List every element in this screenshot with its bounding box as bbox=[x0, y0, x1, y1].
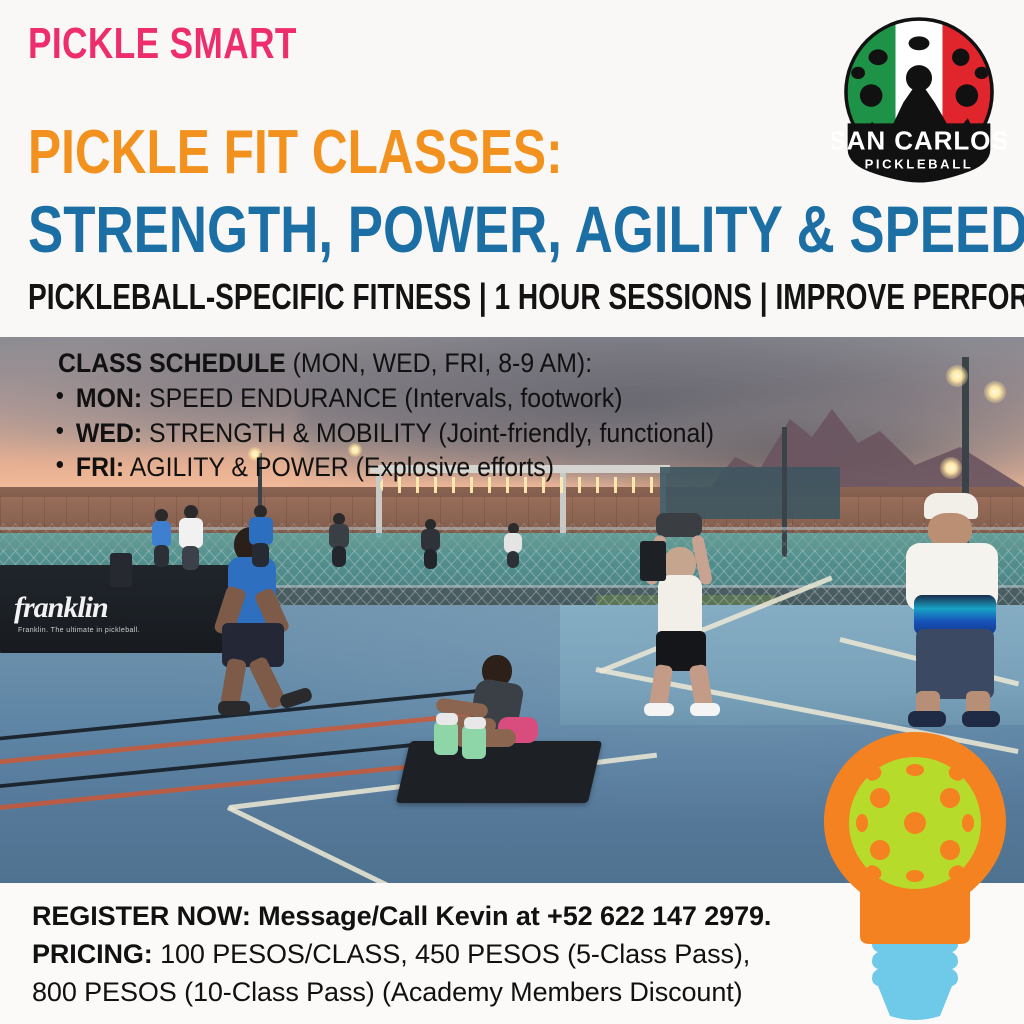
class-schedule: CLASS SCHEDULE (MON, WED, FRI, 8-9 AM): … bbox=[0, 348, 760, 484]
bg-person-1 bbox=[150, 509, 172, 567]
schedule-item-wed-text: STRENGTH & MOBILITY (Joint-friendly, fun… bbox=[142, 418, 714, 448]
weight-plate bbox=[656, 513, 702, 537]
brand-title: PICKLE SMART bbox=[28, 22, 297, 66]
schedule-title: CLASS SCHEDULE (MON, WED, FRI, 8-9 AM): bbox=[58, 348, 704, 379]
logo-line-1: SAN CARLOS bbox=[832, 125, 1006, 155]
athlete-stretching bbox=[420, 655, 550, 765]
bg-person-5 bbox=[420, 519, 442, 569]
logo-line-2: PICKLEBALL bbox=[865, 157, 974, 172]
lamp-right-top bbox=[946, 365, 968, 387]
trash-can bbox=[640, 541, 666, 581]
schedule-item-mon: MON: SPEED ENDURANCE (Intervals, footwor… bbox=[52, 381, 703, 415]
schedule-item-mon-text: SPEED ENDURANCE (Intervals, footwork) bbox=[142, 383, 622, 413]
bg-person-3 bbox=[248, 505, 274, 567]
schedule-list: MON: SPEED ENDURANCE (Intervals, footwor… bbox=[0, 381, 760, 484]
pricing-details: 100 PESOS/CLASS, 450 PESOS (5-Class Pass… bbox=[153, 939, 750, 969]
athlete-jumping-bag bbox=[886, 487, 1016, 727]
franklin-banner-subtext: Franklin. The ultimate in pickleball. bbox=[18, 627, 140, 634]
headline-secondary: STRENGTH, POWER, AGILITY & SPEED bbox=[28, 196, 1024, 262]
register-label: REGISTER NOW: bbox=[32, 901, 251, 931]
pricing-line-2: 800 PESOS (10-Class Pass) (Academy Membe… bbox=[32, 977, 743, 1008]
lamp-right-upper bbox=[984, 381, 1006, 403]
bg-person-4 bbox=[328, 513, 350, 567]
bg-person-6 bbox=[504, 523, 524, 567]
register-details: Message/Call Kevin at +52 622 147 2979. bbox=[251, 901, 772, 931]
pricing-label: PRICING: bbox=[32, 939, 153, 969]
trash-can-2 bbox=[110, 553, 132, 587]
header-section: PICKLE SMART PICKLE FIT CLASSES: STRENGT… bbox=[0, 0, 1024, 337]
pickleball-icon bbox=[849, 757, 981, 889]
athlete-overhead-press bbox=[630, 489, 730, 719]
schedule-item-wed-day: WED: bbox=[76, 418, 142, 448]
bg-person-2 bbox=[178, 505, 204, 571]
schedule-item-fri-text: AGILITY & POWER (Explosive efforts) bbox=[124, 452, 554, 482]
tagline: PICKLEBALL-SPECIFIC FITNESS | 1 HOUR SES… bbox=[28, 279, 1024, 315]
pricing-line-1: PRICING: 100 PESOS/CLASS, 450 PESOS (5-C… bbox=[32, 939, 750, 970]
schedule-item-fri-day: FRI: bbox=[76, 452, 124, 482]
headline-primary: PICKLE FIT CLASSES: bbox=[28, 122, 563, 184]
schedule-item-mon-day: MON: bbox=[76, 383, 142, 413]
lamp-right-lower bbox=[940, 457, 962, 479]
flyer-canvas: PICKLE SMART PICKLE FIT CLASSES: STRENGT… bbox=[0, 0, 1024, 1024]
schedule-item-wed: WED: STRENGTH & MOBILITY (Joint-friendly… bbox=[52, 416, 703, 450]
lightbulb-pickleball-graphic bbox=[812, 730, 1018, 1024]
schedule-item-fri: FRI: AGILITY & POWER (Explosive efforts) bbox=[52, 450, 703, 484]
franklin-banner-text: franklin bbox=[14, 591, 108, 625]
register-line: REGISTER NOW: Message/Call Kevin at +52 … bbox=[32, 901, 771, 932]
schedule-title-rest: (MON, WED, FRI, 8-9 AM): bbox=[286, 348, 592, 378]
san-carlos-pickleball-logo: SAN CARLOS PICKLEBALL bbox=[832, 12, 1006, 186]
schedule-title-bold: CLASS SCHEDULE bbox=[58, 348, 286, 378]
